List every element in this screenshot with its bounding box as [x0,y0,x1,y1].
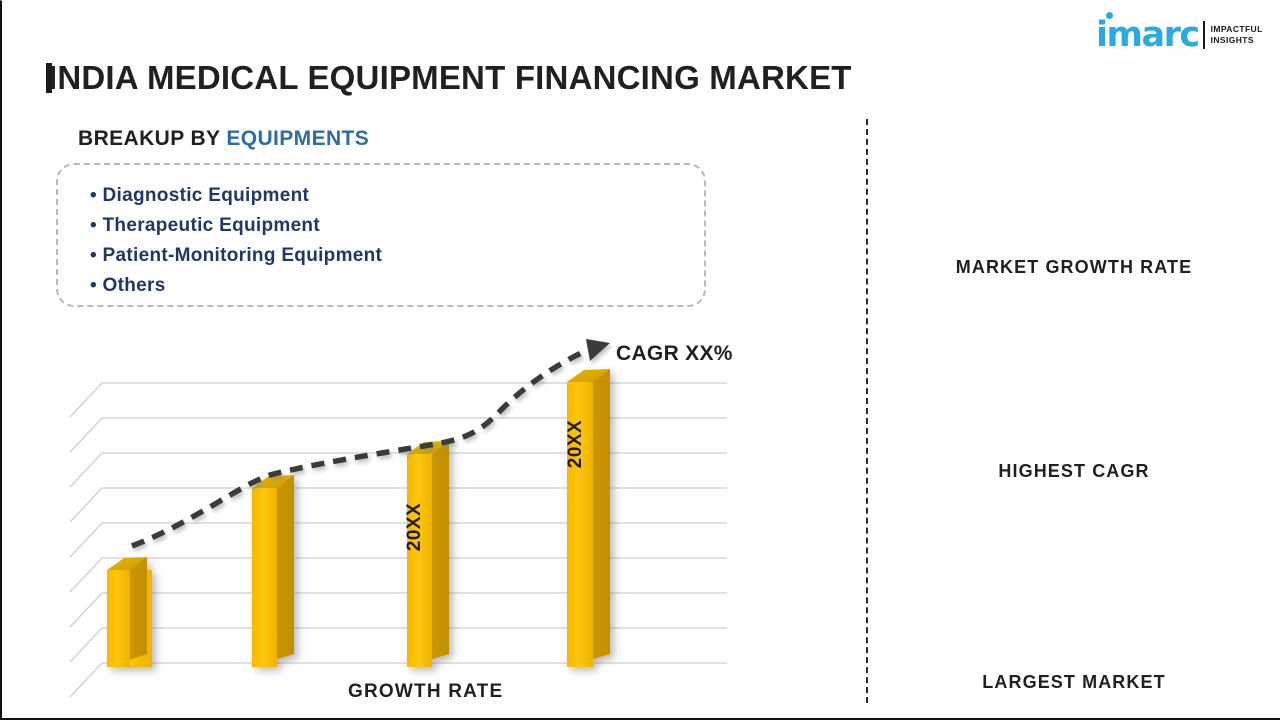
chart-axis-label: GROWTH RATE [348,681,503,703]
largest-market-caption: LARGEST MARKET [866,672,1280,693]
trendline [132,339,610,546]
bar-3-value-label: 20XX [404,503,425,551]
market-growth-rate-caption: MARKET GROWTH RATE [866,257,1280,278]
growth-rate-bar-chart: 20XX 20XX [62,327,752,707]
bar-4: 20XX [565,369,610,667]
right-panel: CAGR XX% (20XX-20XX) MARKET GROWTH RATE … [866,1,1280,721]
bar-4-value-label: 20XX [565,420,586,468]
bar-2 [252,475,294,667]
highest-cagr-caption: HIGHEST CAGR [866,461,1280,482]
infographic-page: imarc IMPACTFUL INSIGHTS INDIA MEDICAL E… [0,0,1280,720]
list-item: • Diagnostic Equipment [90,181,704,211]
bar-1-solid [107,557,147,667]
breakup-heading-prefix: BREAKUP BY [78,127,226,150]
breakup-heading: BREAKUP BY EQUIPMENTS [78,127,369,151]
page-title: INDIA MEDICAL EQUIPMENT FINANCING MARKET [48,59,852,97]
chart-gridlines [70,383,727,697]
bar-3: 20XX [404,441,449,667]
list-item: • Others [90,271,704,301]
breakup-heading-highlight: EQUIPMENTS [226,127,369,150]
chart-svg: 20XX 20XX [62,327,752,707]
list-item: • Patient-Monitoring Equipment [90,241,704,271]
list-item: • Therapeutic Equipment [90,211,704,241]
equipment-segment-list: • Diagnostic Equipment • Therapeutic Equ… [56,163,706,307]
cagr-callout-label: CAGR XX% [616,342,733,366]
